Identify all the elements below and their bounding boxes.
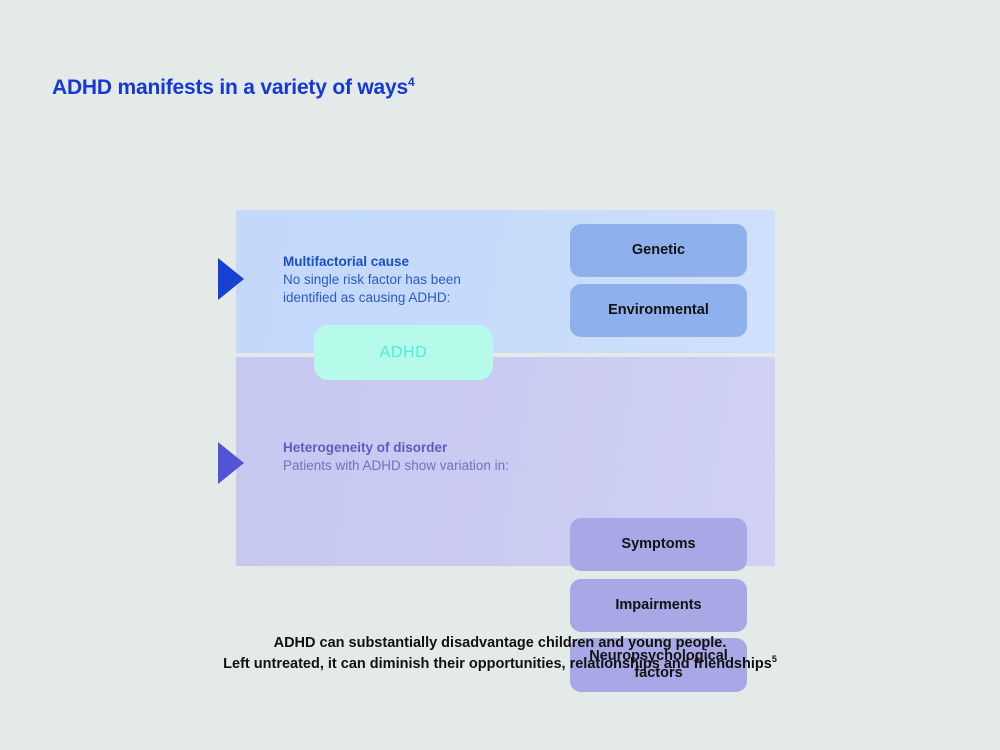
page-title-text: ADHD manifests in a variety of ways bbox=[52, 76, 408, 99]
band-heterogeneity-heading: Heterogeneity of disorder bbox=[283, 439, 509, 457]
page-title-superscript: 4 bbox=[408, 75, 414, 89]
band-heterogeneity-text: Heterogeneity of disorder Patients with … bbox=[283, 439, 509, 475]
band-cause-heading: Multifactorial cause bbox=[283, 253, 461, 271]
adhd-diagram: Multifactorial cause No single risk fact… bbox=[236, 210, 775, 566]
footer-line-2-superscript: 5 bbox=[772, 654, 777, 664]
card-symptoms-label: Symptoms bbox=[621, 536, 695, 553]
center-node-adhd[interactable]: ADHD bbox=[314, 325, 493, 380]
card-impairments-label: Impairments bbox=[615, 597, 701, 614]
card-environmental-label: Environmental bbox=[608, 302, 709, 319]
card-genetic[interactable]: Genetic bbox=[570, 224, 747, 277]
slide-canvas: { "slide": { "title_text": "ADHD manifes… bbox=[0, 0, 1000, 750]
footer-statement: ADHD can substantially disadvantage chil… bbox=[0, 633, 1000, 675]
center-node-adhd-label: ADHD bbox=[380, 344, 428, 362]
footer-line-1: ADHD can substantially disadvantage chil… bbox=[0, 633, 1000, 654]
triangle-right-icon bbox=[218, 442, 244, 484]
page-title: ADHD manifests in a variety of ways4 bbox=[52, 76, 414, 100]
band-cause-text: Multifactorial cause No single risk fact… bbox=[283, 253, 461, 307]
card-genetic-label: Genetic bbox=[632, 242, 685, 259]
card-symptoms[interactable]: Symptoms bbox=[570, 518, 747, 571]
card-impairments[interactable]: Impairments bbox=[570, 579, 747, 632]
triangle-right-icon bbox=[218, 258, 244, 300]
band-heterogeneity-description: Patients with ADHD show variation in: bbox=[283, 457, 509, 475]
footer-line-2: Left untreated, it can diminish their op… bbox=[0, 654, 1000, 675]
band-cause-description-line2: identified as causing ADHD: bbox=[283, 289, 461, 307]
footer-line-2-text: Left untreated, it can diminish their op… bbox=[223, 656, 772, 672]
card-environmental[interactable]: Environmental bbox=[570, 284, 747, 337]
band-cause-description-line1: No single risk factor has been bbox=[283, 271, 461, 289]
